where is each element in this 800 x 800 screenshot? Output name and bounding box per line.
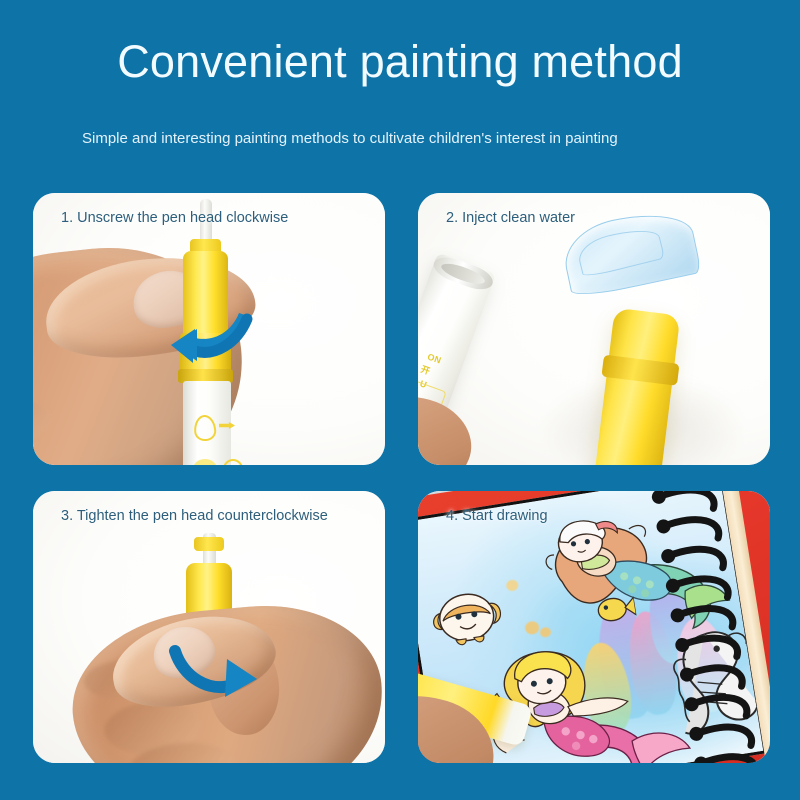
- rotate-clockwise-arrow-icon: [169, 641, 261, 699]
- step-card-2[interactable]: ON 开 NO: U 2. Inject clean water: [418, 193, 770, 465]
- pen-collar: [194, 537, 224, 551]
- step-card-3[interactable]: 3. Tighten the pen head counterclockwise: [33, 491, 385, 763]
- pen-print-cjk: 开: [419, 362, 432, 377]
- small-fish-illustration: [593, 591, 637, 627]
- steps-grid: 1. Unscrew the pen head clockwise ON 开 N…: [33, 193, 770, 763]
- step-card-4[interactable]: 4. Start drawing: [418, 491, 770, 763]
- step-4-photo: [418, 491, 770, 763]
- knuckle-crease-icon: [33, 394, 52, 449]
- pen-cap-step: [601, 355, 679, 386]
- step-1-photo: [33, 193, 385, 465]
- step-3-label: 3. Tighten the pen head counterclockwise: [61, 507, 351, 527]
- step-1-label: 1. Unscrew the pen head clockwise: [61, 209, 351, 229]
- page-title: Convenient painting method: [0, 38, 800, 85]
- step-2-photo: ON 开 NO: U: [418, 193, 770, 465]
- step-card-1[interactable]: 1. Unscrew the pen head clockwise: [33, 193, 385, 465]
- step-3-photo: [33, 491, 385, 763]
- rotate-counterclockwise-arrow-icon: [167, 311, 255, 367]
- page-subtitle: Simple and interesting painting methods …: [82, 128, 714, 150]
- step-2-label: 2. Inject clean water: [446, 209, 736, 229]
- step-4-label: 4. Start drawing: [446, 507, 736, 527]
